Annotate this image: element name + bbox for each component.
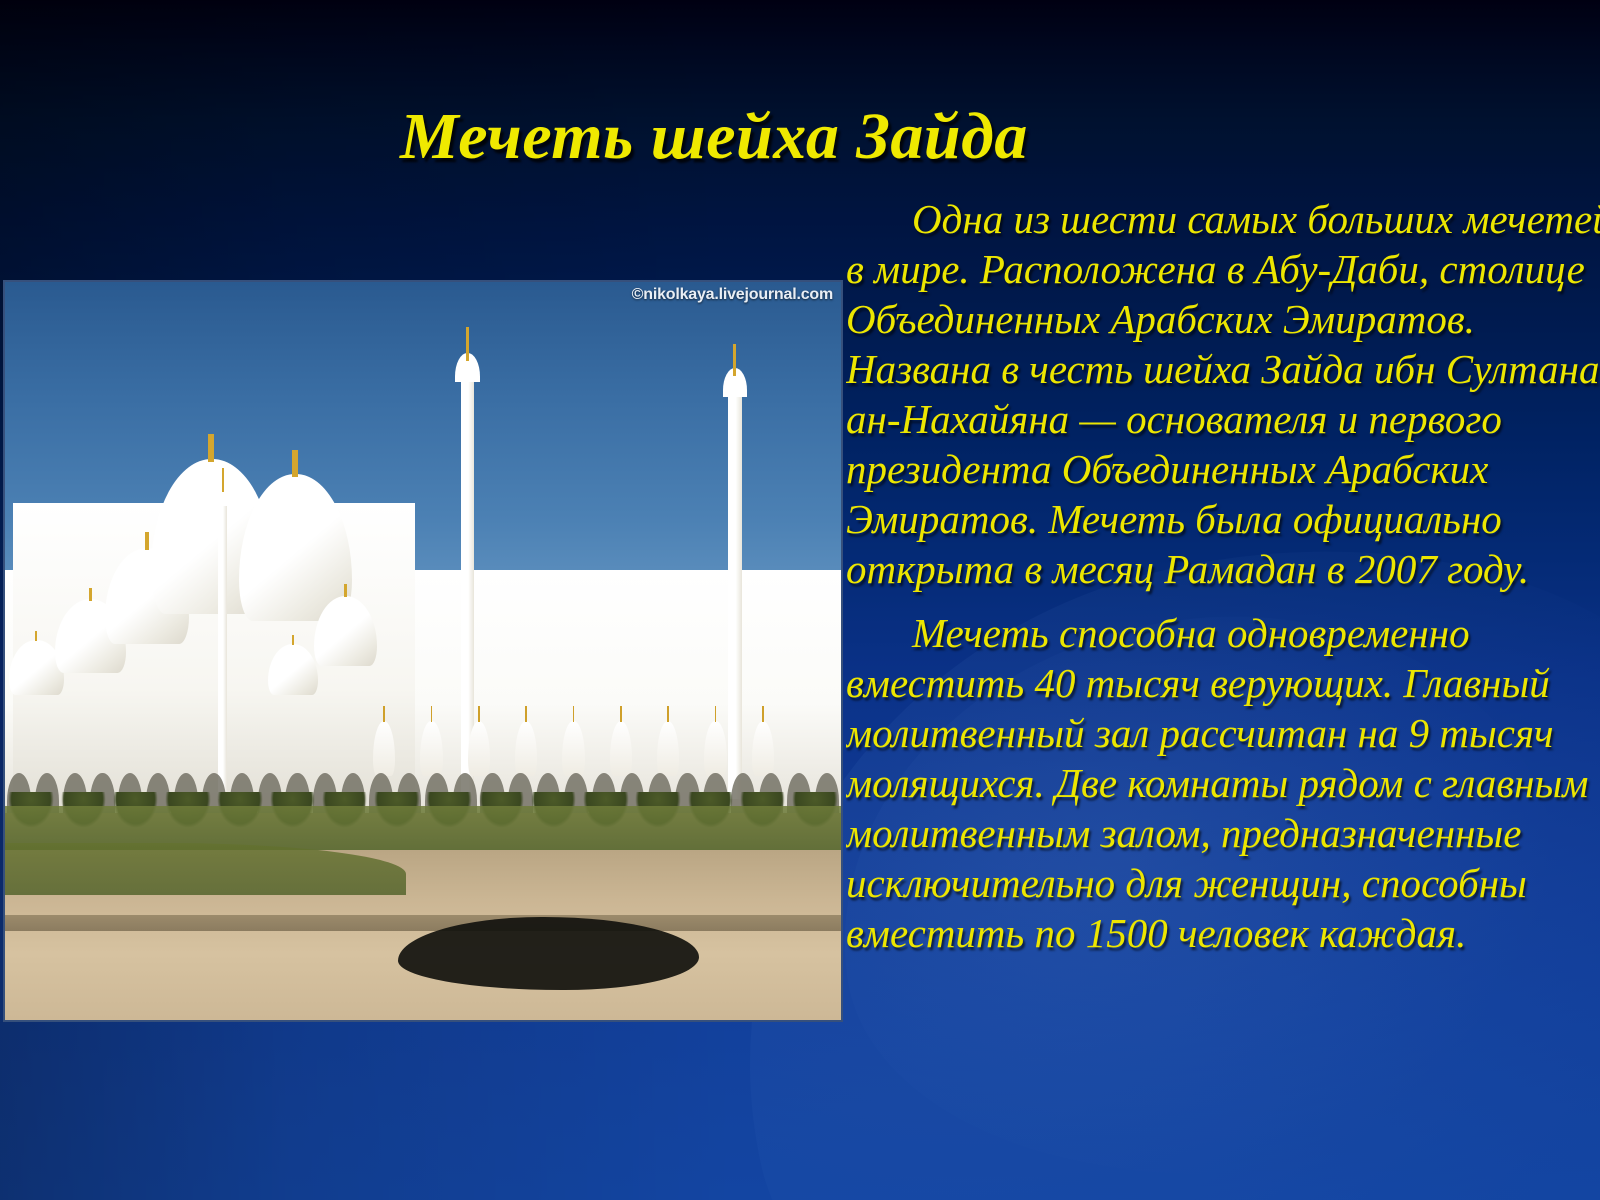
colonnade-dome — [373, 721, 395, 776]
paragraph-1: Одна из шести самых больших мечетей в ми… — [846, 194, 1600, 594]
colonnade-dome — [610, 721, 632, 776]
dome-colonnade-row — [373, 721, 774, 776]
presentation-slide: Мечеть шейха Зайда — [0, 0, 1600, 1200]
colonnade-dome — [752, 721, 774, 776]
paragraph-2: Мечеть способна одновременно вместить 40… — [846, 608, 1600, 958]
colonnade-dome — [468, 721, 490, 776]
photo-canvas: ©nikolkaya.livejournal.com — [5, 282, 841, 1020]
garden-path — [5, 915, 841, 931]
photo-watermark: ©nikolkaya.livejournal.com — [632, 286, 833, 304]
slide-title: Мечеть шейха Зайда — [400, 104, 1580, 170]
colonnade-dome — [562, 721, 584, 776]
colonnade-dome — [515, 721, 537, 776]
slide-body-text: Одна из шести самых больших мечетей в ми… — [846, 194, 1600, 972]
colonnade-dome — [657, 721, 679, 776]
minaret-left — [218, 503, 227, 798]
colonnade-dome — [420, 721, 442, 776]
colonnade-dome — [704, 721, 726, 776]
mosque-photo: ©nikolkaya.livejournal.com — [3, 280, 843, 1022]
